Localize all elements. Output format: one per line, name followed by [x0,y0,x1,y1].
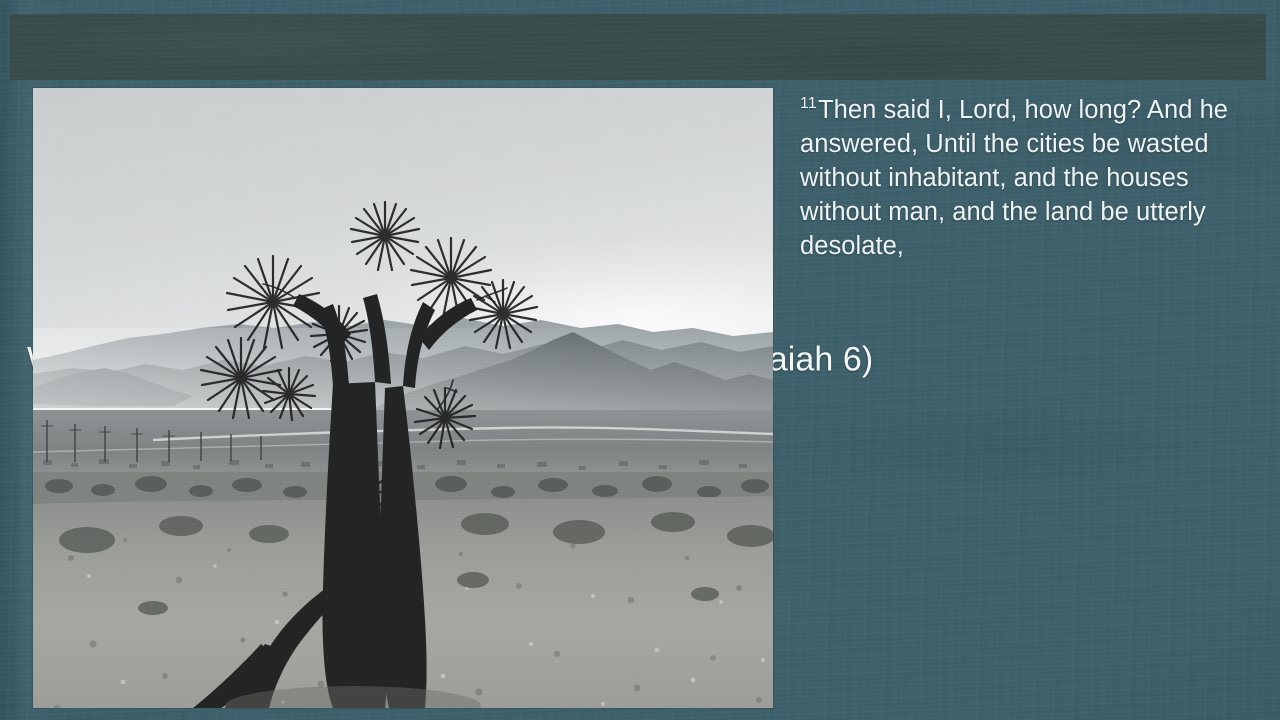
title-bar [10,14,1266,80]
scripture-text: 11Then said I, Lord, how long? And he an… [800,93,1240,263]
verse-body: Then said I, Lord, how long? And he answ… [800,96,1228,260]
slide-photo [33,88,773,708]
title-bar-mottling [10,14,1266,80]
presentation-slide: What period of time does his message cov… [0,0,1280,720]
joshua-tree-photo-graphic [33,88,773,708]
verse-number: 11 [800,95,817,112]
